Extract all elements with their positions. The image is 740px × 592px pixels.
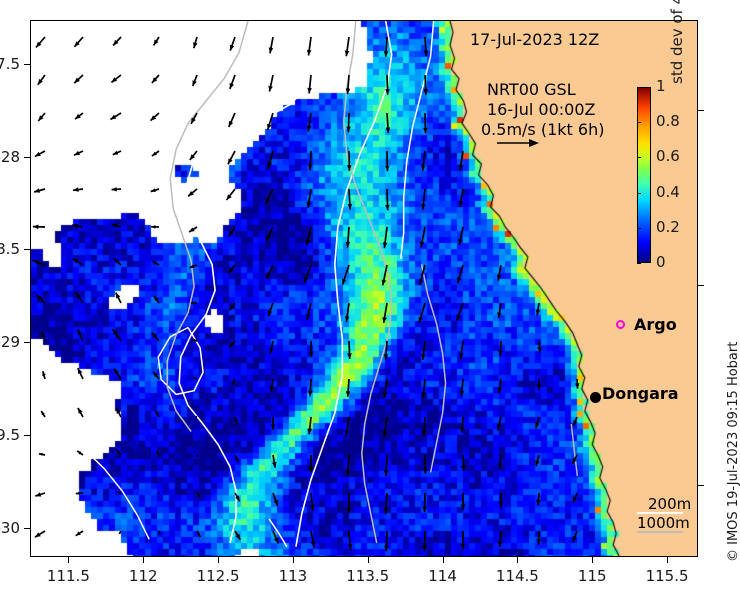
current-vector [77,451,83,455]
y-tick-label: -27.5 [0,55,20,73]
current-vector [383,379,388,398]
current-vector [76,293,83,303]
colorbar-tick-label: 0.4 [656,183,680,201]
current-vector [304,265,311,283]
right-frame-tick [698,110,704,111]
current-vector [497,265,502,281]
current-vector [386,113,391,133]
x-tick-label: 112.5 [183,567,253,585]
current-vector [151,188,159,192]
current-vector [110,113,121,120]
current-vector [229,227,236,236]
colorbar [637,87,651,263]
current-vector [229,265,235,273]
x-tick-label: 113 [258,567,328,585]
current-vector [421,189,426,210]
current-vector [384,531,389,551]
current-vector [235,531,240,540]
current-vector [234,417,237,424]
current-vector [422,531,427,552]
current-vector [119,531,121,534]
current-vector [345,303,350,322]
current-vector [230,37,235,51]
current-vector [111,75,121,82]
argo-label: Argo [634,315,677,334]
current-vector [190,265,198,269]
current-vector [456,303,463,321]
contour-200m [422,264,446,472]
current-vector [310,493,315,511]
current-vector [33,260,45,265]
current-vector [383,417,388,437]
current-vector [193,377,197,379]
colorbar-tick-label: 0.8 [656,112,680,130]
current-vector [423,113,428,133]
x-tick [68,557,69,563]
colorbar-tick [637,122,641,123]
x-tick [443,557,444,563]
current-vector [342,265,349,285]
current-vector [73,187,83,192]
map-plot-area[interactable] [30,20,698,557]
current-vector [74,37,83,47]
x-tick-label: 115.5 [632,567,702,585]
current-vector [383,227,388,248]
current-vector [34,188,45,193]
current-vector [156,451,159,455]
current-vector [152,75,159,83]
current-vector [190,151,197,160]
current-vector [116,408,121,417]
figure-canvas: 17-Jul-2023 12Z NRT00 GSL 16-Jul 00:00Z … [0,0,740,592]
source-product-label: NRT00 GSL [487,80,576,99]
current-vector [35,151,45,157]
current-vector [497,303,502,318]
current-vector [307,189,312,208]
y-tick [24,249,30,250]
current-vector [267,265,273,279]
credit-text: © IMOS 19-Jul-2023 09:15 Hobart [726,342,740,562]
current-vector [116,449,121,455]
current-vector [459,341,464,359]
current-vector [197,455,198,457]
depth-legend-1000m-label: 1000m [637,514,690,532]
y-tick [24,64,30,65]
current-vector [78,329,83,341]
current-vector [38,113,45,121]
current-vector [385,151,390,171]
current-vector [307,113,312,132]
current-vector [227,189,236,200]
current-vector [193,37,198,48]
map-overlays [31,21,697,556]
current-vector [74,151,83,155]
current-vector [41,411,45,417]
current-vector [348,531,353,550]
current-vector [536,303,541,315]
current-vector [116,293,121,303]
current-vector [271,417,276,430]
current-vector [423,455,428,474]
current-vector [382,303,387,323]
colorbar-tick-label: 0.6 [656,147,680,165]
x-tick [143,557,144,563]
x-tick-label: 114 [408,567,478,585]
current-vector [535,417,539,428]
current-vector [158,492,160,494]
contour-1000m [179,21,330,543]
current-vector [272,455,277,468]
current-vector [573,417,577,426]
current-vector [345,37,350,56]
current-vector [306,227,311,245]
current-vector [461,455,466,471]
current-vector [33,225,45,230]
current-vector [229,341,235,347]
current-vector [385,189,390,210]
current-vector [35,531,45,537]
current-vector [424,37,429,56]
current-vector [422,493,427,512]
current-vector [196,416,197,417]
current-vector [229,113,235,127]
source-time-label: 16-Jul 00:00Z [487,100,595,119]
current-vector [537,341,542,352]
current-vector [345,417,350,436]
current-vector [152,332,159,341]
current-vector [76,492,83,495]
current-vector [191,339,197,342]
current-vector [459,189,464,207]
colorbar-tick [637,263,641,264]
current-vector [152,151,159,156]
x-tick-label: 111.5 [33,567,103,585]
colorbar-tick-label: 1 [656,77,666,95]
colorbar-title: std dev of 4hr SST comp [668,0,686,84]
current-vector [266,227,273,241]
current-vector [498,531,503,547]
current-vector [536,531,541,545]
x-tick-label: 114.5 [482,567,552,585]
right-frame-tick [698,485,704,486]
current-vector [75,113,83,119]
current-vector [78,408,83,417]
current-vector [461,531,466,549]
colorbar-tick [637,87,641,88]
current-vector [498,341,503,356]
current-vector [269,341,274,354]
current-vector [154,296,159,303]
current-vector [151,225,159,229]
current-vector [114,259,121,266]
dongara-marker-icon [590,392,601,403]
current-vector [235,455,239,462]
current-vector [308,151,313,170]
current-vector [41,332,45,341]
x-tick [667,557,668,563]
current-vector [419,303,426,323]
current-vector [348,189,353,210]
right-frame-tick [698,285,704,286]
current-vector [113,329,121,341]
contour-1000m [39,420,150,539]
x-tick-label: 112 [108,567,178,585]
current-vector [191,302,197,305]
x-tick [517,557,518,563]
argo-marker-icon [616,320,625,329]
y-tick [24,528,30,529]
current-vector [420,227,425,247]
depth-legend-200m-label: 200m [648,495,691,513]
current-vector [498,455,503,469]
current-vector [460,417,465,433]
current-vector [266,189,274,204]
current-vector [347,493,352,513]
current-vector [230,75,235,89]
current-vector [113,151,121,155]
x-tick [293,557,294,563]
current-vector [306,303,311,320]
current-vector [346,227,351,247]
current-vector [37,295,45,303]
current-vector [384,37,389,57]
current-vector [78,368,83,379]
current-vector [311,531,316,548]
colorbar-tick [637,157,641,158]
current-vector [384,493,389,514]
current-vector [347,341,352,359]
current-vector [154,37,159,45]
current-vector [575,379,580,389]
current-vector [159,531,161,535]
current-vector [232,379,235,385]
current-vector [36,37,45,47]
current-vector [188,189,197,196]
current-vector [73,259,83,265]
current-vector [114,369,121,380]
current-vector [76,531,83,536]
current-vector [228,151,235,164]
current-vector [536,493,541,505]
current-vector [309,455,314,472]
y-tick-label: -28 [0,148,20,166]
current-vector [307,37,312,56]
current-vector [458,227,463,245]
current-vector [270,379,275,392]
current-vector [537,379,542,390]
contour-200m [571,424,577,476]
colorbar-tick-label: 0.2 [656,218,680,236]
x-tick-label: 113.5 [333,567,403,585]
current-vector [112,187,121,191]
current-vector [460,379,465,396]
current-vector [35,492,45,496]
contour-1000m [401,21,434,259]
current-vector [309,341,314,357]
current-vector [382,265,387,285]
colorbar-tick-label: 0 [656,253,666,271]
current-vector [72,224,83,229]
current-vector [273,531,278,544]
current-vector [153,261,159,265]
current-vector [497,417,502,430]
current-vector [113,37,121,46]
y-tick [24,157,30,158]
current-vector [535,455,540,466]
current-vector [156,411,159,417]
current-vector [39,453,45,456]
current-vector [499,493,504,508]
current-vector [153,372,159,379]
x-tick [592,557,593,563]
title-date: 17-Jul-2023 12Z [470,30,599,49]
current-vector [197,493,200,497]
x-tick [368,557,369,563]
colorbar-tick [637,193,641,194]
current-vector [269,37,274,53]
y-tick [24,435,30,436]
current-vector [268,303,273,316]
current-vector [421,379,426,398]
current-vector [498,379,503,393]
current-vector [117,492,121,494]
current-vector [308,379,313,396]
current-vector [191,113,197,124]
current-vector [421,151,426,171]
current-vector [308,417,313,434]
current-vector [74,75,83,83]
dongara-label: Dongara [602,384,679,403]
depth-legend-1000m-line [637,531,683,533]
current-vector [193,75,198,86]
current-vector [230,303,236,310]
current-vector [151,113,160,121]
current-vector [112,224,121,228]
current-vector [42,371,46,379]
x-tick [218,557,219,563]
current-vector [346,455,351,476]
current-vector [461,493,466,510]
y-tick-label: -29 [0,333,20,351]
current-vector [573,531,577,542]
current-vector [573,493,577,503]
current-vector [273,493,278,506]
current-vector [268,75,273,92]
x-tick-label: 115 [557,567,627,585]
colorbar-tick [637,228,641,229]
current-vector [38,75,45,85]
y-tick-label: -29.5 [0,426,20,444]
y-tick-label: -28.5 [0,240,20,258]
current-vector [457,265,463,283]
current-vector [346,113,351,132]
current-vector [459,151,464,170]
current-vector [422,417,427,436]
y-tick-label: -30 [0,519,20,537]
current-vector [197,531,200,537]
vector-scale-arrow-icon [495,135,541,151]
current-vector [268,151,273,168]
current-vector [384,455,389,476]
y-tick [24,342,30,343]
current-vector [346,379,351,397]
current-vector [421,341,426,360]
